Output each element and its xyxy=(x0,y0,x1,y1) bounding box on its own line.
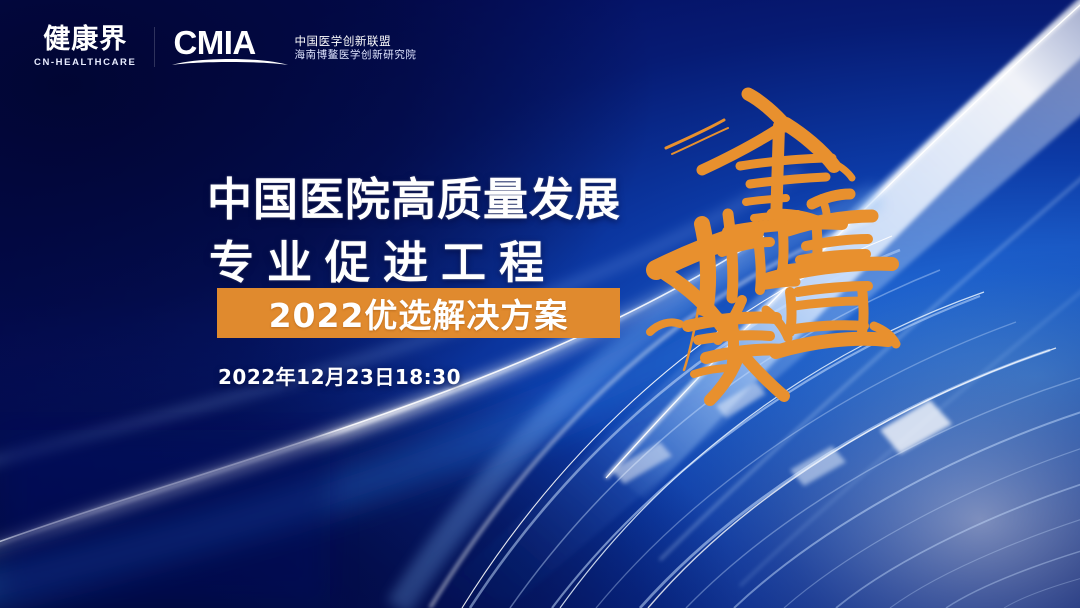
logo-cn-healthcare[interactable]: 健康界 CN-HEALTHCARE xyxy=(34,26,136,68)
calligraphy-char-yi xyxy=(766,194,896,352)
solution-banner: 2022优选解决方案 xyxy=(217,288,620,338)
beam-highlights xyxy=(612,382,952,486)
cmia-subtitle: 中国医学创新联盟 海南博鳌医学创新研究院 xyxy=(294,32,416,62)
calligraphy-jinruyi-award xyxy=(636,74,936,404)
cmia-subtitle-line2: 海南博鳌医学创新研究院 xyxy=(294,49,416,62)
event-poster: 健康界 CN-HEALTHCARE CMIA 中国医学创新联盟 海南博鳌医学创新… xyxy=(0,0,1080,608)
title-line-2: 专业促进工程 xyxy=(209,226,557,291)
logo-bar: 健康界 CN-HEALTHCARE CMIA 中国医学创新联盟 海南博鳌医学创新… xyxy=(34,24,417,70)
calligraphy-char-ru xyxy=(650,214,818,370)
title-line-1: 中国医院高质量发展 xyxy=(207,163,621,228)
solution-banner-label: 2022优选解决方案 xyxy=(269,289,569,337)
cmia-wordmark: CMIA xyxy=(173,24,285,70)
calligraphy-char-jiang xyxy=(688,300,788,400)
logo-cn-healthcare-chinese: 健康界 xyxy=(43,26,127,53)
logo-cmia[interactable]: CMIA 中国医学创新联盟 海南博鳌医学创新研究院 xyxy=(173,24,416,70)
calligraphy-strokes xyxy=(636,74,936,404)
cmia-subtitle-line1: 中国医学创新联盟 xyxy=(294,34,416,49)
logo-cn-healthcare-english: CN-HEALTHCARE xyxy=(34,58,136,68)
calligraphy-char-jin xyxy=(666,94,852,232)
logo-divider xyxy=(154,27,155,67)
event-datetime: 2022年12月23日18:30 xyxy=(218,361,461,390)
cmia-swoosh-icon xyxy=(171,56,289,69)
